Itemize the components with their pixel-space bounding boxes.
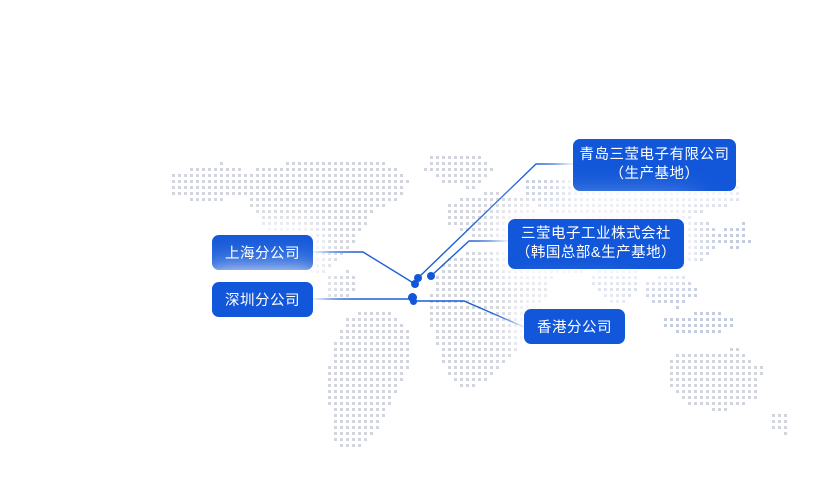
conn-hongkong	[413, 301, 524, 327]
korea-dot[interactable]	[427, 272, 435, 280]
hongkong-dot[interactable]	[410, 298, 417, 305]
label-korea[interactable]: 三莹电子工业株式会社 （韩国总部&生产基地）	[508, 219, 684, 269]
conn-shanghai	[313, 252, 415, 284]
world-map-infographic: 青岛三莹电子有限公司 （生产基地） 三莹电子工业株式会社 （韩国总部&生产基地）…	[0, 0, 824, 480]
label-shanghai-text: 上海分公司	[225, 242, 300, 263]
label-shenzhen[interactable]: 深圳分公司	[212, 282, 313, 317]
connector-lines	[0, 0, 824, 480]
label-shanghai[interactable]: 上海分公司	[212, 235, 313, 270]
label-hongkong-text: 香港分公司	[537, 316, 612, 337]
label-qingdao[interactable]: 青岛三莹电子有限公司 （生产基地）	[573, 139, 736, 191]
label-korea-line2: （韩国总部&生产基地）	[516, 244, 676, 263]
label-qingdao-line1: 青岛三莹电子有限公司	[580, 146, 730, 165]
conn-korea	[431, 241, 508, 276]
label-korea-line1: 三莹电子工业株式会社	[521, 225, 671, 244]
shanghai-dot[interactable]	[411, 280, 419, 288]
label-hongkong[interactable]: 香港分公司	[524, 309, 625, 344]
label-shenzhen-text: 深圳分公司	[225, 289, 300, 310]
label-qingdao-line2: （生产基地）	[610, 165, 700, 184]
